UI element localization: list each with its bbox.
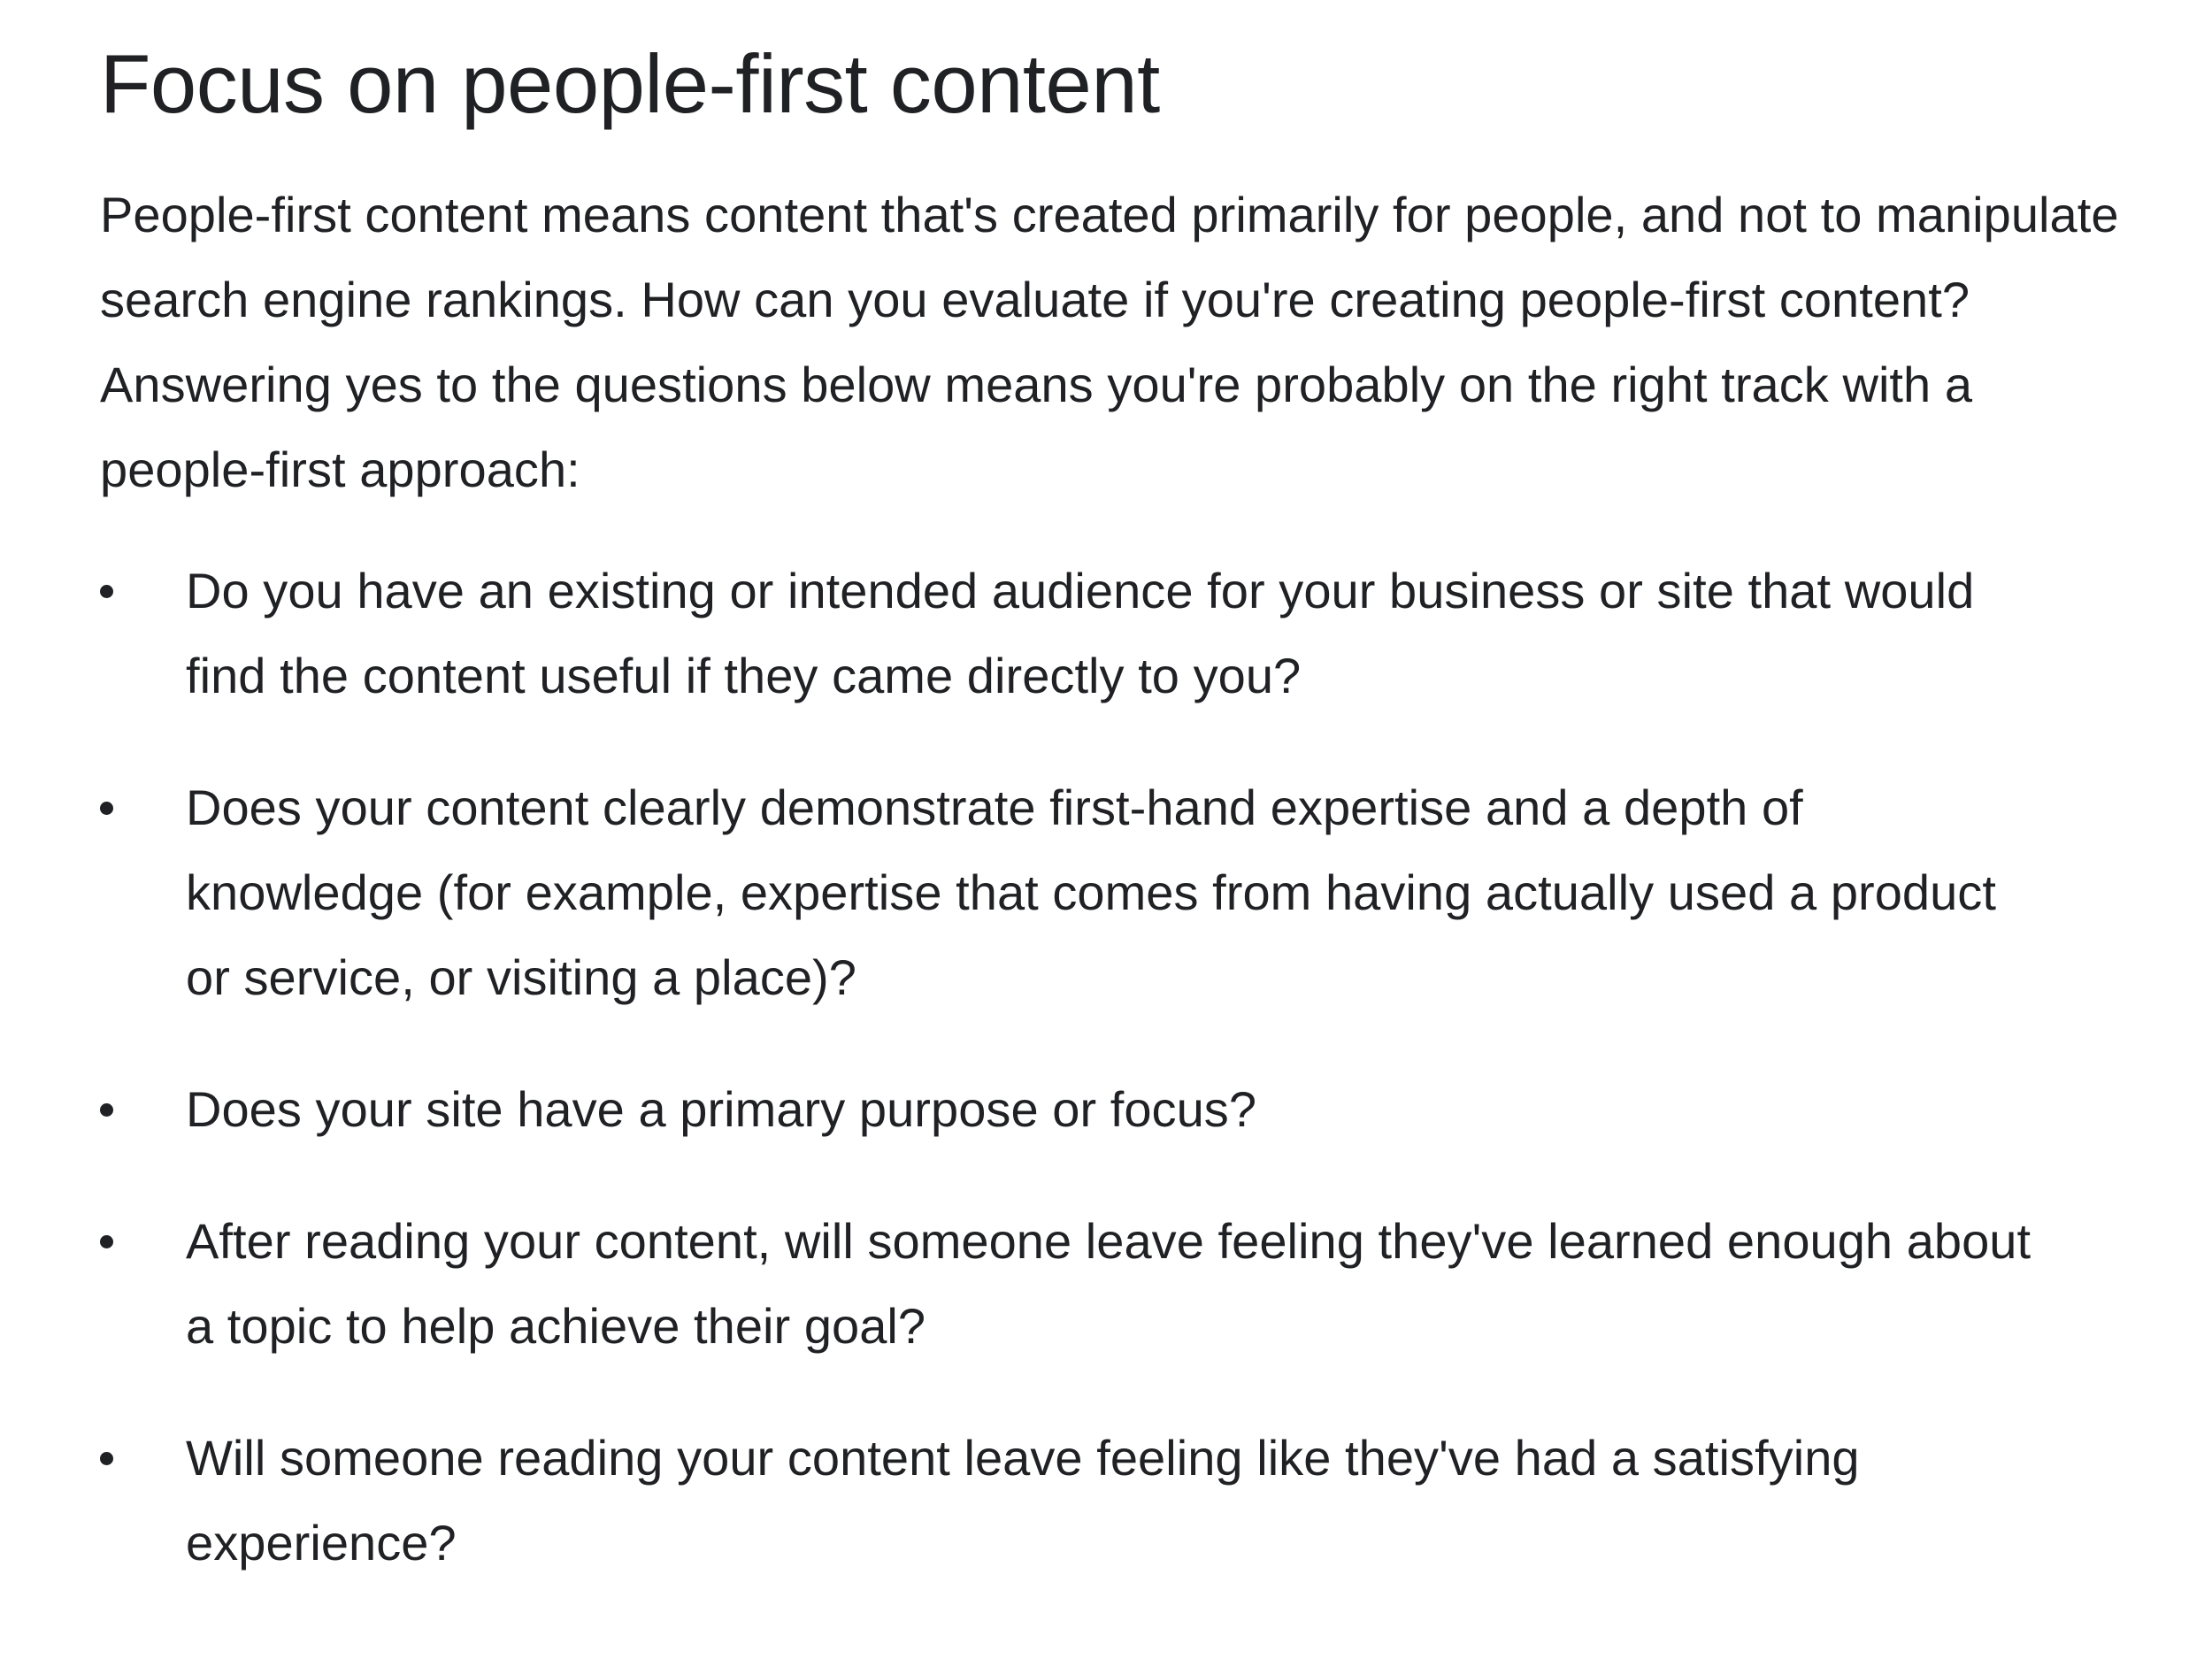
list-item: Do you have an existing or intended audi… <box>100 549 2049 718</box>
list-item: Will someone reading your content leave … <box>100 1416 2049 1586</box>
document-page: Focus on people-first content People-fir… <box>0 0 2212 1659</box>
question-list: Do you have an existing or intended audi… <box>100 549 2135 1586</box>
list-item: After reading your content, will someone… <box>100 1199 2049 1369</box>
list-item-label: After reading your content, will someone… <box>186 1199 2049 1369</box>
bullet-dot-icon <box>100 802 113 815</box>
bullet-dot-icon <box>100 1235 113 1248</box>
list-item: Does your site have a primary purpose or… <box>100 1067 2049 1152</box>
page-title: Focus on people-first content <box>100 0 2135 136</box>
bullet-dot-icon <box>100 585 113 598</box>
list-item-label: Do you have an existing or intended audi… <box>186 549 2049 718</box>
list-item-label: Does your site have a primary purpose or… <box>186 1067 2049 1152</box>
article-body: Focus on people-first content People-fir… <box>100 0 2135 1586</box>
list-item-label: Does your content clearly demonstrate fi… <box>186 765 2049 1020</box>
bullet-dot-icon <box>100 1103 113 1117</box>
bullet-dot-icon <box>100 1452 113 1465</box>
list-item-label: Will someone reading your content leave … <box>186 1416 2049 1586</box>
intro-paragraph: People-first content means content that'… <box>100 173 2131 512</box>
list-item: Does your content clearly demonstrate fi… <box>100 765 2049 1020</box>
